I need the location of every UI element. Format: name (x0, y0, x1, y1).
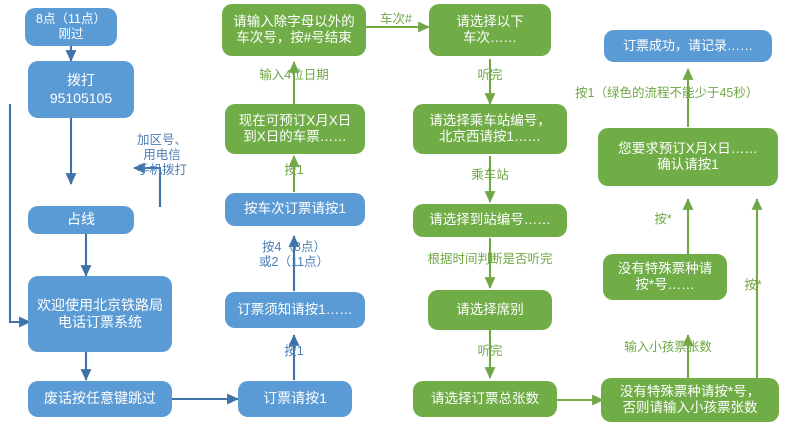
node-special-ticket-or-child[interactable]: 没有特殊票种请按*号， 否则请输入小孩票张数 (601, 378, 779, 422)
edge-label-press-1-45-seconds: 按1（绿色的流程不能少于45秒） (575, 86, 799, 101)
edge-label-train-number-hash: 车次# (366, 12, 426, 27)
node-choose-arrival-station[interactable]: 请选择到站编号…… (413, 204, 567, 237)
node-press-1-to-book[interactable]: 订票请按1 (238, 381, 352, 417)
edge-label-press-4-or-2: 按4（8点） 或2（11点） (239, 240, 349, 270)
node-8-oclock-just-passed[interactable]: 8点（11点） 刚过 (25, 8, 117, 46)
node-choose-seat-class[interactable]: 请选择席别 (428, 290, 552, 330)
edge-label-judge-by-time: 根据时间判断是否听完 (408, 252, 572, 267)
node-dial-95105105[interactable]: 拨打 95105105 (28, 61, 134, 118)
node-book-by-train-number[interactable]: 按车次订票请按1 (225, 193, 365, 226)
node-line-busy[interactable]: 占线 (28, 206, 134, 234)
node-enter-train-number[interactable]: 请输入除字母以外的 车次号，按#号结束 (222, 4, 366, 56)
node-booking-success[interactable]: 订票成功，请记录…… (604, 30, 772, 62)
edge-label-enter-4-digit-date: 输入4位日期 (238, 68, 350, 83)
edge-label-enter-child-count: 输入小孩票张数 (608, 340, 728, 355)
edge-dial-loop-left (10, 104, 30, 322)
node-booking-notice[interactable]: 订票须知请按1…… (225, 292, 365, 328)
node-choose-ticket-count[interactable]: 请选择订票总张数 (413, 381, 557, 417)
node-available-dates[interactable]: 现在可预订X月X日 到X日的车票…… (225, 104, 365, 154)
node-no-special-ticket-press-star[interactable]: 没有特殊票种请 按*号…… (603, 254, 727, 300)
node-skip-with-any-key[interactable]: 废话按任意键跳过 (28, 381, 172, 417)
node-choose-following-train[interactable]: 请选择以下 车次…… (429, 4, 551, 56)
edge-label-press-1-dates: 按1 (269, 163, 319, 178)
edge-label-press-star-1: 按* (640, 212, 686, 227)
node-choose-departure-station[interactable]: 请选择乘车站编号， 北京西请按1…… (413, 104, 567, 154)
flowchart-canvas: 8点（11点） 刚过 拨打 95105105 占线 欢迎使用北京铁路局 电话订票… (0, 0, 800, 431)
edge-label-departure-station: 乘车站 (455, 168, 525, 183)
edge-label-add-area-code: 加区号、 用电信 手机拨打 (122, 133, 202, 178)
node-confirm-booking[interactable]: 您要求预订X月X日…… 确认请按1 (598, 128, 778, 186)
edge-label-press-1-notice: 按1 (269, 344, 319, 359)
edge-label-press-star-2: 按* (730, 278, 776, 293)
edge-label-listen-finished-1: 听完 (462, 68, 518, 83)
node-welcome-beijing-railway[interactable]: 欢迎使用北京铁路局 电话订票系统 (28, 276, 172, 352)
edge-label-listen-finished-2: 听完 (462, 344, 518, 359)
